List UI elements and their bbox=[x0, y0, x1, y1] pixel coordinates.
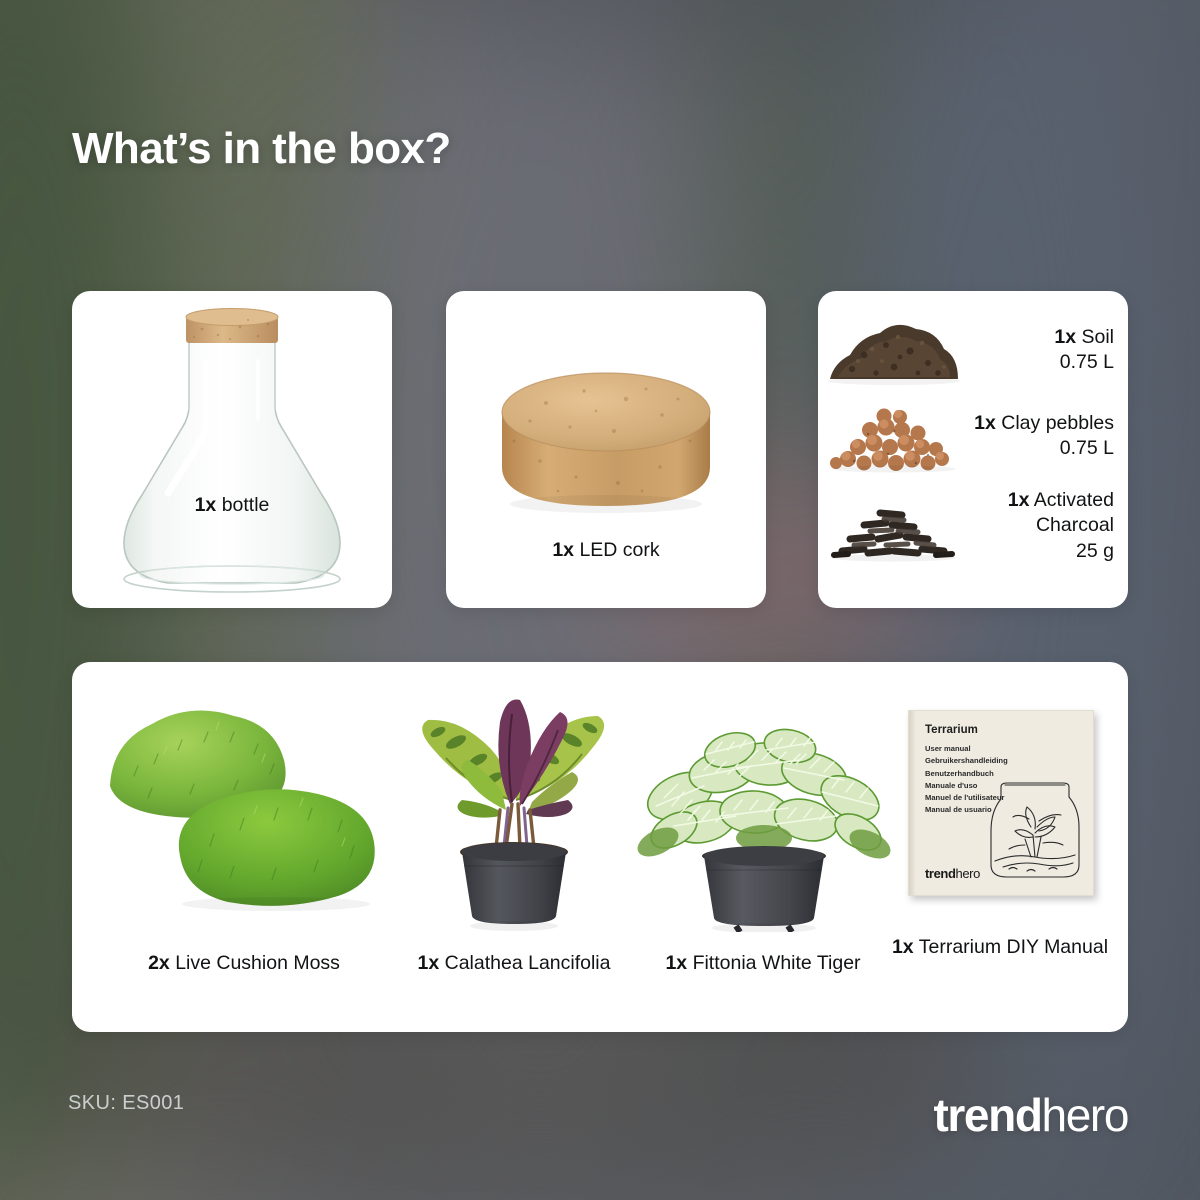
moss-qty: 2x bbox=[148, 952, 170, 974]
cushion-moss-image bbox=[94, 680, 394, 932]
substrate-text-clay-pebbles: 1x Clay pebbles 0.75 L bbox=[964, 411, 1128, 462]
led-cork-label: 1x LED cork bbox=[446, 538, 766, 563]
clay-pebbles-illustration bbox=[824, 397, 964, 475]
manual-cover-title: Terrarium bbox=[925, 724, 978, 736]
led-cork-name: LED cork bbox=[579, 539, 659, 561]
sku-label: SKU: ES001 bbox=[68, 1092, 184, 1115]
calathea-illustration bbox=[394, 680, 634, 932]
brand-logo: trendhero bbox=[934, 1088, 1128, 1142]
calathea-image bbox=[394, 680, 634, 932]
terrarium-jar-line-art-icon bbox=[979, 769, 1087, 887]
bottle-name: bottle bbox=[222, 494, 270, 516]
pebbles-qty: 1x bbox=[974, 412, 996, 434]
led-cork-qty: 1x bbox=[552, 539, 574, 561]
soil-name: Soil bbox=[1081, 326, 1114, 348]
manual-brand-bold: trend bbox=[925, 866, 956, 881]
charcoal-amount: 25 g bbox=[964, 539, 1114, 564]
manual-image: Terrarium User manual Gebruikershandleid… bbox=[890, 680, 1110, 932]
manual-qty: 1x bbox=[892, 936, 914, 958]
brand-logo-light: hero bbox=[1042, 1089, 1128, 1141]
fittonia-name: Fittonia White Tiger bbox=[693, 952, 861, 974]
manual-name: Terrarium DIY Manual bbox=[919, 936, 1108, 958]
activated-charcoal-image bbox=[824, 487, 964, 565]
soil-qty: 1x bbox=[1054, 326, 1076, 348]
manual-brand-logo: trendhero bbox=[925, 866, 980, 881]
calathea-name: Calathea Lancifolia bbox=[445, 952, 611, 974]
plants-card: 2x Live Cushion Moss bbox=[72, 662, 1128, 1032]
fittonia-qty: 1x bbox=[665, 952, 687, 974]
calathea-caption: 1x Calathea Lancifolia bbox=[394, 950, 634, 976]
substrate-text-activated-charcoal: 1x Activated Charcoal 25 g bbox=[964, 488, 1128, 564]
moss-caption: 2x Live Cushion Moss bbox=[94, 950, 394, 976]
brand-logo-bold: trend bbox=[934, 1089, 1042, 1141]
moss-illustration bbox=[94, 680, 394, 932]
clay-pebbles-image bbox=[824, 397, 964, 475]
bottle-qty: 1x bbox=[195, 494, 217, 516]
fittonia-caption: 1x Fittonia White Tiger bbox=[618, 950, 908, 976]
led-cork-card: 1x LED cork bbox=[446, 291, 766, 608]
soil-illustration bbox=[824, 311, 964, 389]
bottle-image bbox=[72, 291, 392, 608]
booklet-spine bbox=[909, 711, 916, 895]
bottle-illustration bbox=[72, 291, 392, 608]
manual-lang-en: User manual bbox=[925, 743, 1008, 755]
page-title: What’s in the box? bbox=[72, 124, 451, 174]
substrates-card: 1x Soil 0.75 L bbox=[818, 291, 1128, 608]
substrate-text-soil: 1x Soil 0.75 L bbox=[964, 325, 1128, 376]
manual-brand-light: hero bbox=[956, 866, 980, 881]
manual-lang-nl: Gebruikershandleiding bbox=[925, 755, 1008, 767]
charcoal-qty: 1x bbox=[1008, 489, 1030, 511]
soil-image bbox=[824, 311, 964, 389]
substrate-row-clay-pebbles: 1x Clay pebbles 0.75 L bbox=[824, 397, 1128, 475]
pebbles-name: Clay pebbles bbox=[1001, 412, 1114, 434]
soil-amount: 0.75 L bbox=[964, 350, 1114, 375]
calathea-qty: 1x bbox=[418, 952, 440, 974]
bottle-card: 1x bottle bbox=[72, 291, 392, 608]
charcoal-name: Activated Charcoal bbox=[1034, 489, 1114, 536]
moss-name: Live Cushion Moss bbox=[175, 952, 340, 974]
fittonia-illustration bbox=[618, 680, 908, 932]
bottle-label: 1x bottle bbox=[72, 493, 392, 518]
manual-caption: 1x Terrarium DIY Manual bbox=[880, 934, 1120, 960]
substrate-row-soil: 1x Soil 0.75 L bbox=[824, 311, 1128, 389]
substrate-row-activated-charcoal: 1x Activated Charcoal 25 g bbox=[824, 487, 1128, 565]
fittonia-image bbox=[618, 680, 908, 932]
pebbles-amount: 0.75 L bbox=[964, 436, 1114, 461]
manual-booklet: Terrarium User manual Gebruikershandleid… bbox=[908, 710, 1094, 896]
charcoal-illustration bbox=[824, 487, 964, 565]
